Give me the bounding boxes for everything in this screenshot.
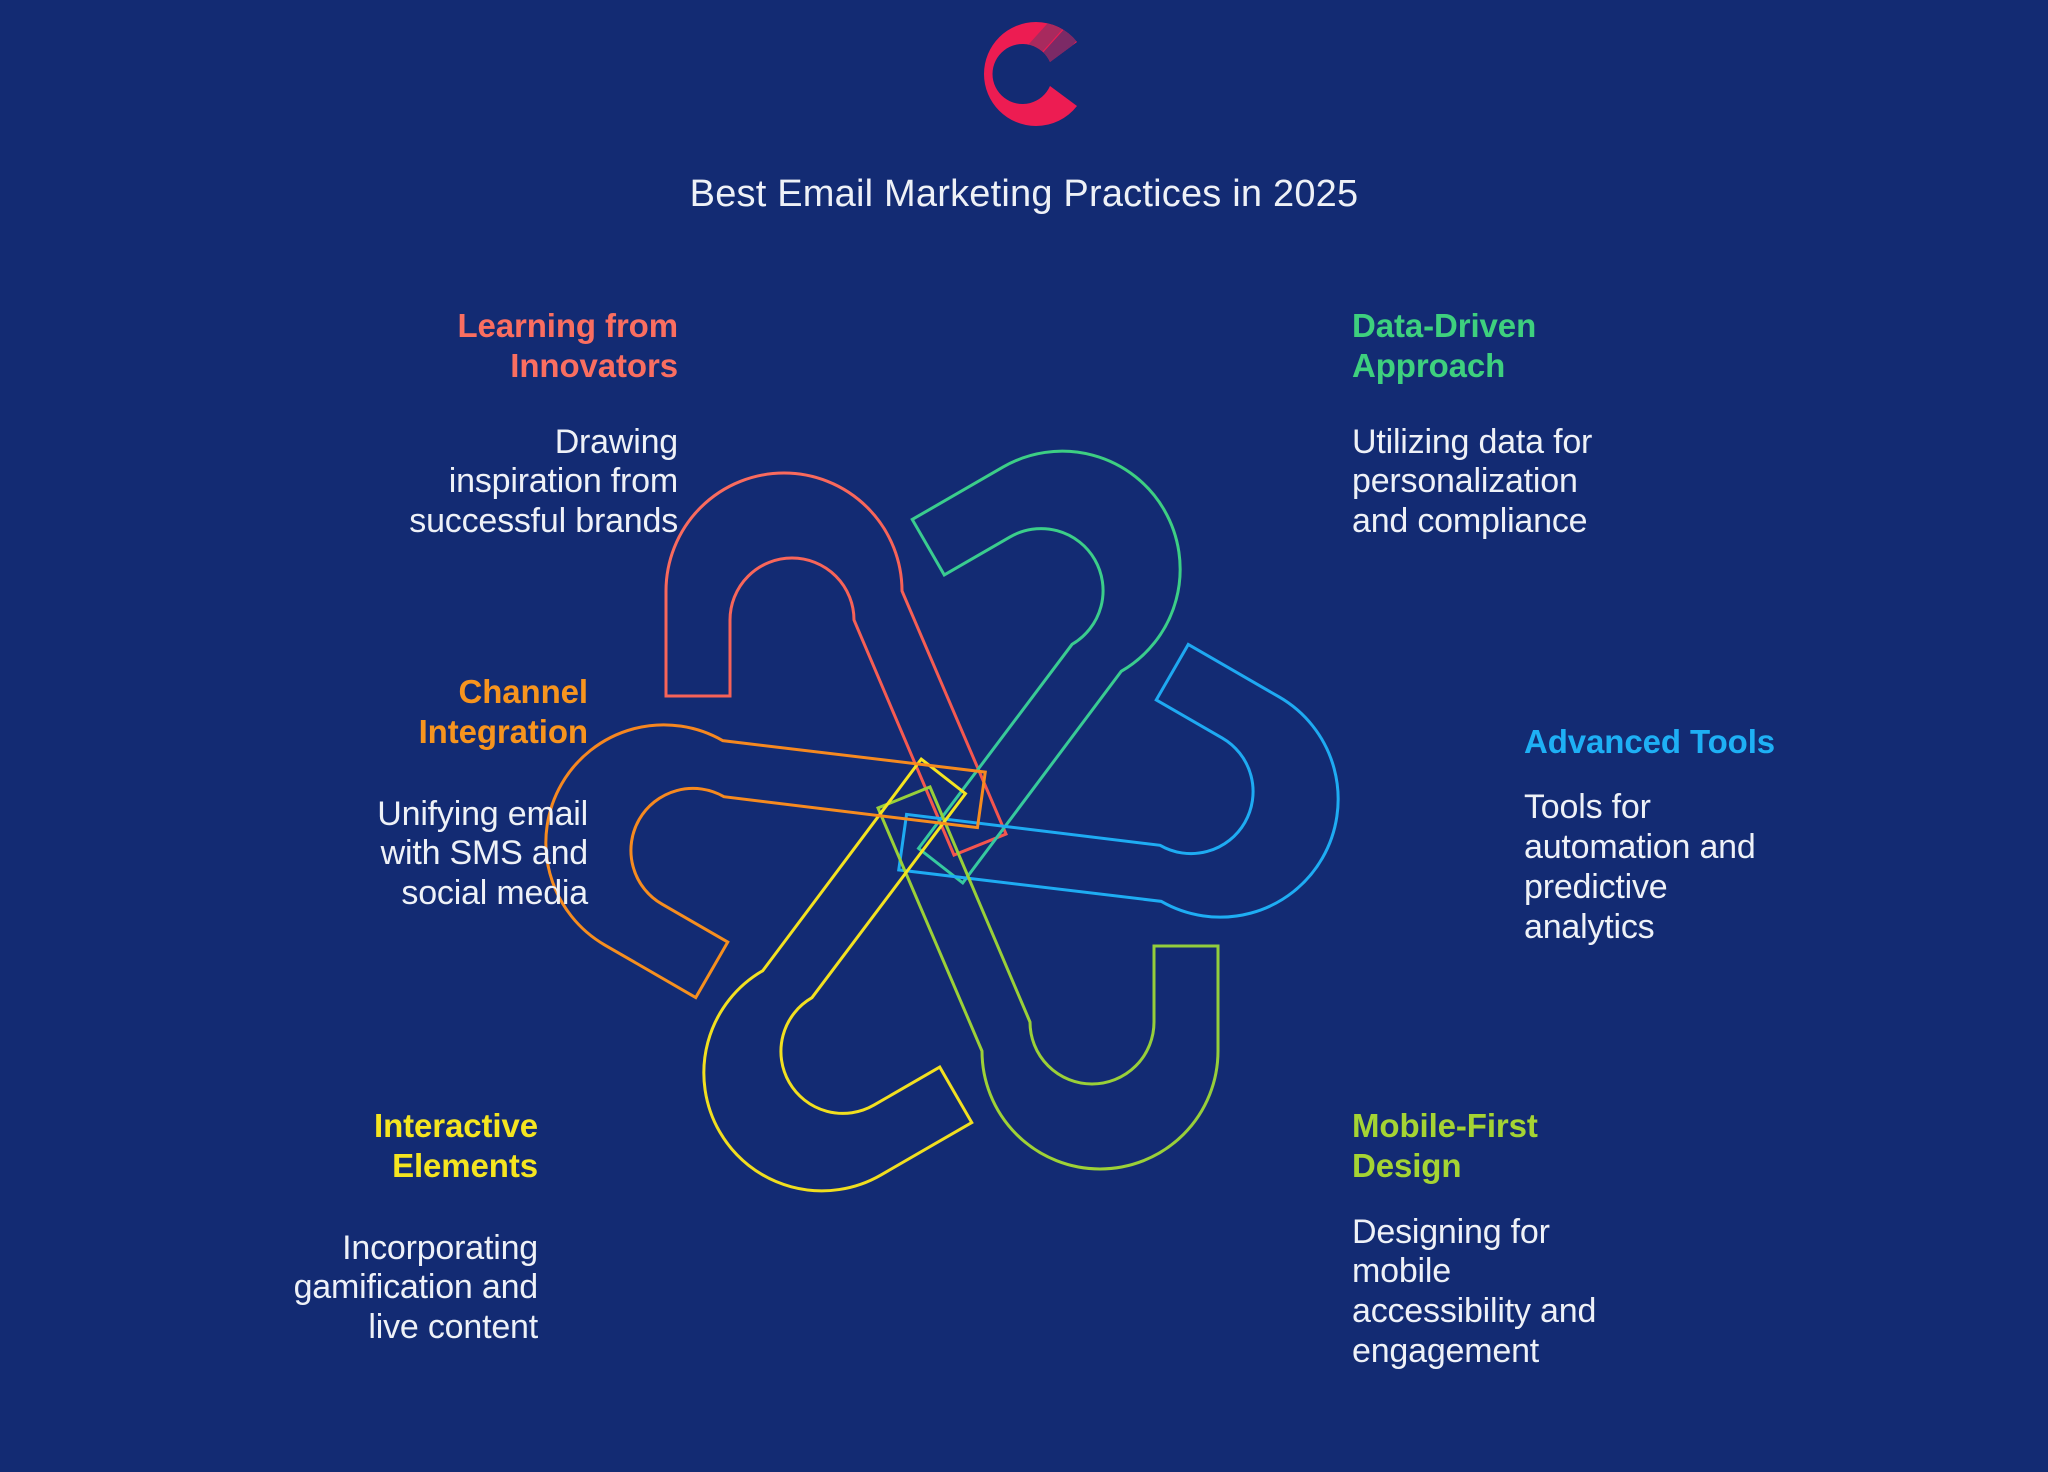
item-title-advanced: Advanced Tools [1524,722,2004,762]
item-title-data: Data-Driven Approach [1352,306,1832,387]
item-title-learning: Learning from Innovators [198,306,678,387]
item-channel-integration: Channel Integration Unifying email with … [108,672,588,914]
item-mobile-first-design: Mobile-First Design Designing for mobile… [1352,1106,1832,1372]
brand-logo [976,14,1096,134]
item-title-mobile: Mobile-First Design [1352,1106,1832,1187]
item-advanced-tools: Advanced Tools Tools for automation and … [1524,722,2004,947]
item-title-interactive: Interactive Elements [58,1106,538,1187]
infographic-canvas: Best Email Marketing Practices in 2025 [0,0,2048,1472]
item-desc-data: Utilizing data for personalization and c… [1352,423,1832,542]
logo-c-mark-icon [976,14,1096,134]
item-desc-interactive: Incorporating gamification and live cont… [58,1229,538,1348]
item-desc-mobile: Designing for mobile accessibility and e… [1352,1213,1832,1372]
page-title: Best Email Marketing Practices in 2025 [0,172,2048,218]
item-desc-learning: Drawing inspiration from successful bran… [198,423,678,542]
item-title-channel: Channel Integration [108,672,588,753]
item-data-driven-approach: Data-Driven Approach Utilizing data for … [1352,306,1832,542]
item-learning-from-innovators: Learning from Innovators Drawing inspira… [198,306,678,542]
item-desc-advanced: Tools for automation and predictive anal… [1524,788,2004,947]
item-desc-channel: Unifying email with SMS and social media [108,795,588,914]
item-interactive-elements: Interactive Elements Incorporating gamif… [58,1106,538,1348]
